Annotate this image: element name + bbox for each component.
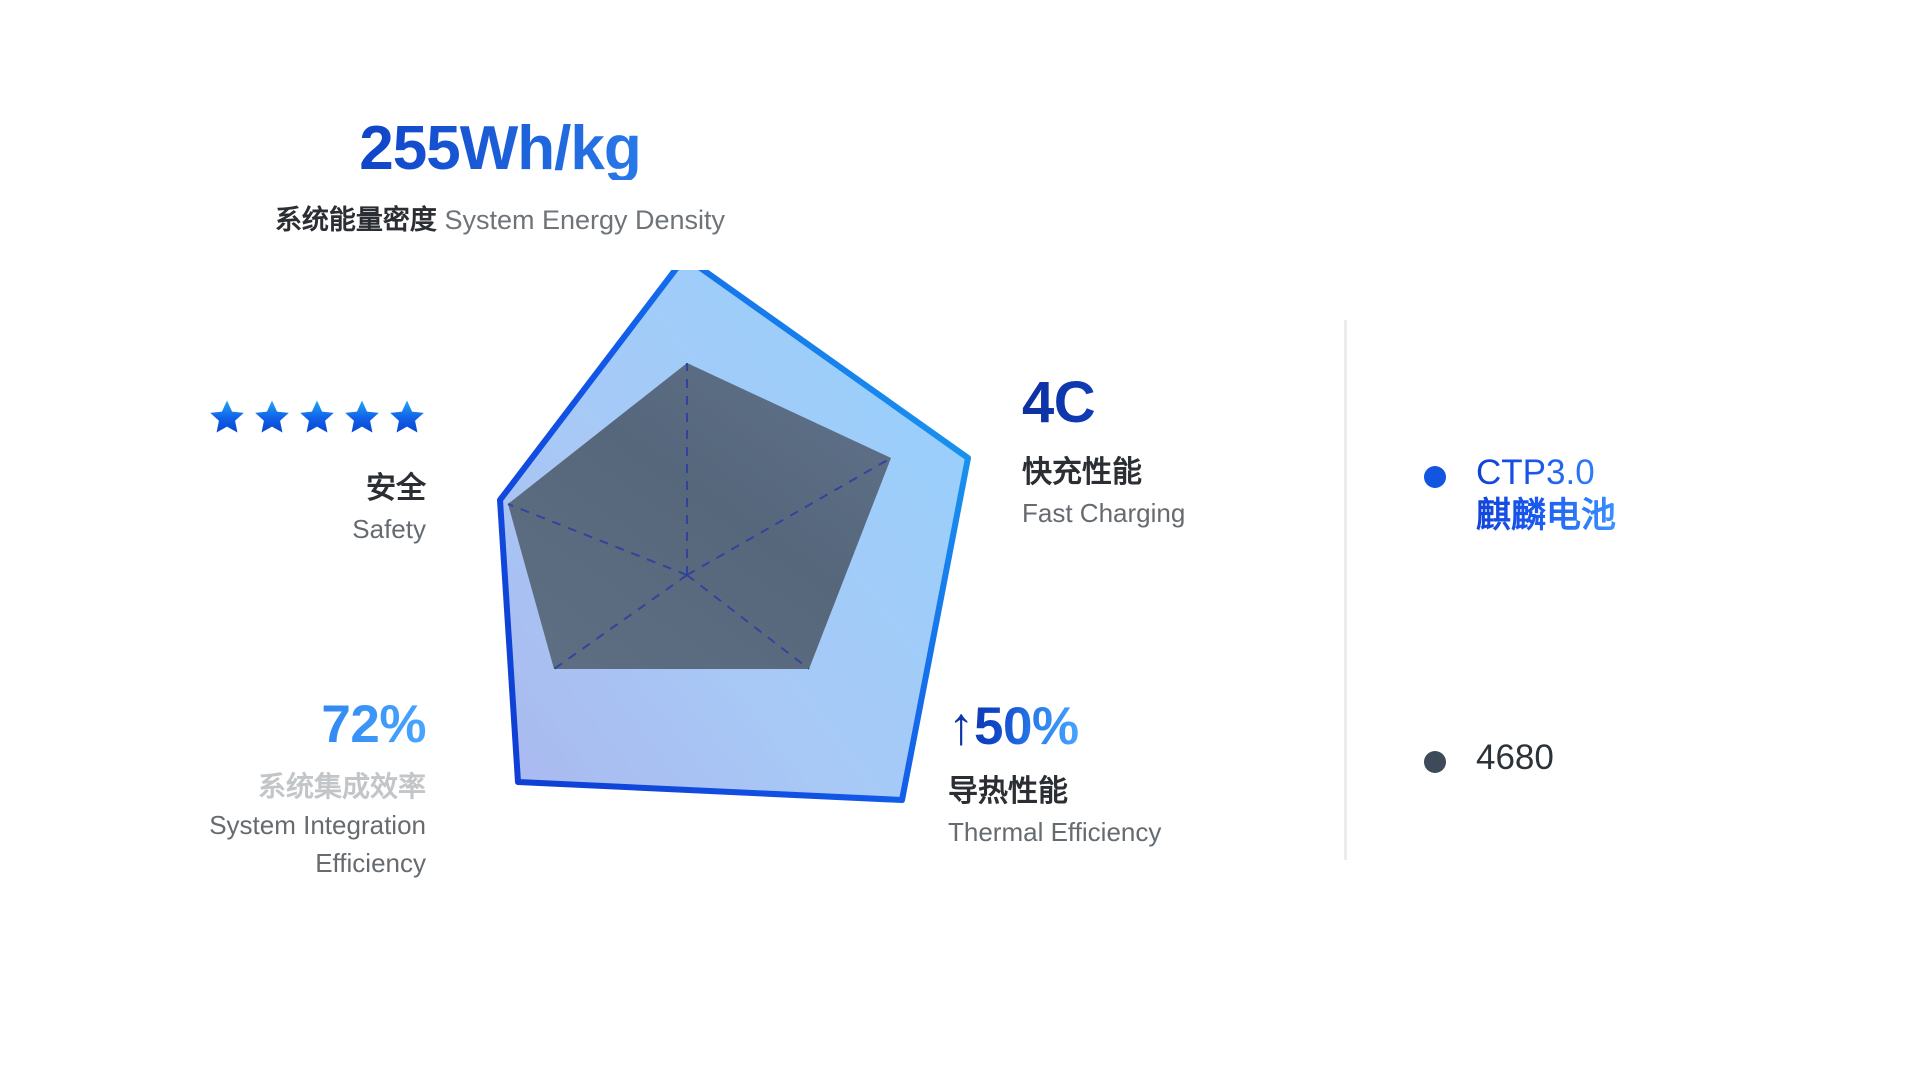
star-icon (298, 398, 336, 436)
integration-label-en-line1: System Integration (36, 809, 426, 843)
legend-item-4680[interactable]: 4680 (1424, 737, 1824, 780)
safety-label-cn: 安全 (36, 470, 426, 508)
legend-item-ctp3[interactable]: CTP3.0 麒麟电池 (1424, 452, 1824, 537)
fast-charging-label-cn: 快充性能 (1022, 454, 1352, 492)
thermal-label-cn: 导热性能 (948, 773, 1348, 811)
energy-density-label-en: System Energy Density (444, 205, 725, 235)
integration-value: 72% (36, 698, 426, 751)
thermal-label-en: Thermal Efficiency (948, 816, 1348, 850)
star-icon (208, 398, 246, 436)
radar-chart (450, 270, 1030, 850)
header-metric-block: 255Wh/kg 系统能量密度 System Energy Density (0, 118, 1000, 237)
star-icon (343, 398, 381, 436)
vertical-divider (1344, 320, 1347, 860)
fast-charging-value: 4C (1022, 374, 1352, 432)
energy-density-value: 255Wh/kg (0, 118, 1000, 180)
energy-density-label: 系统能量密度 System Energy Density (0, 198, 1000, 237)
star-icon (388, 398, 426, 436)
legend-label-ctp3-line1: CTP3.0 (1476, 453, 1595, 492)
safety-label-en: Safety (36, 513, 426, 547)
integration-label-en-line2: Efficiency (36, 847, 426, 881)
legend-dot-icon (1424, 466, 1446, 488)
thermal-metric-group: ↑50% 导热性能 Thermal Efficiency (948, 700, 1348, 850)
fast-charging-label-en: Fast Charging (1022, 497, 1352, 531)
star-icon (253, 398, 291, 436)
safety-label-group: 安全 Safety (36, 470, 426, 547)
legend-dot-icon (1424, 751, 1446, 773)
thermal-value: ↑50% (948, 700, 1079, 753)
legend-label-ctp3: CTP3.0 麒麟电池 (1476, 452, 1616, 537)
fast-charging-metric-group: 4C 快充性能 Fast Charging (1022, 374, 1352, 531)
integration-metric-group: 72% 系统集成效率 System Integration Efficiency (36, 698, 426, 880)
chart-legend: CTP3.0 麒麟电池 4680 (1424, 452, 1824, 780)
legend-label-4680: 4680 (1476, 737, 1554, 780)
energy-density-label-cn: 系统能量密度 (275, 205, 437, 235)
safety-rating (136, 398, 426, 436)
integration-label-cn: 系统集成效率 (36, 769, 426, 805)
legend-label-ctp3-line2: 麒麟电池 (1476, 496, 1616, 535)
